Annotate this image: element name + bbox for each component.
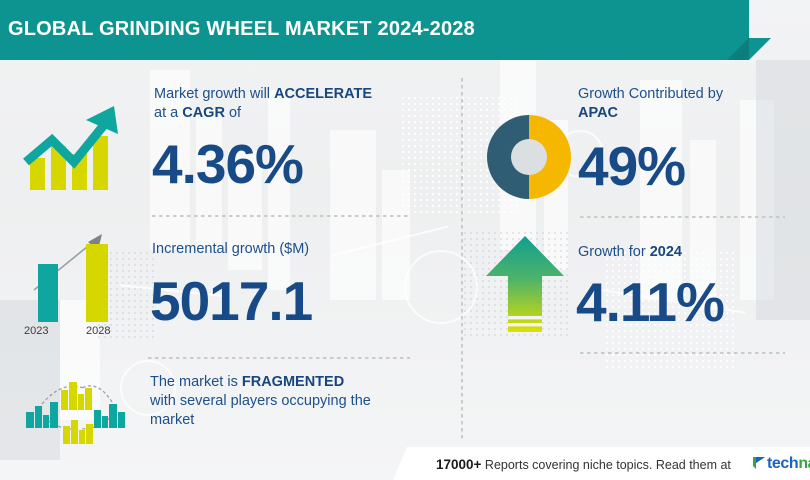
growth-2024-value: 4.11% xyxy=(576,273,724,331)
up-arrow-gradient-icon xyxy=(480,232,570,338)
left-divider-1 xyxy=(152,215,410,217)
cagr-caption-ata: at a xyxy=(154,105,182,121)
cagr-caption-pre: Market growth will xyxy=(154,86,274,102)
growth-2024-year: 2024 xyxy=(650,244,682,260)
apac-value: 49% xyxy=(578,137,685,195)
cagr-caption-cagr: CAGR xyxy=(182,105,225,121)
footer-message: Reports covering niche topics. Read them… xyxy=(485,458,731,472)
fragmentation-bold: FRAGMENTED xyxy=(242,374,344,390)
incremental-value: 5017.1 xyxy=(150,272,312,330)
technavio-flag-icon xyxy=(752,455,766,470)
growth-2024-pre: Growth for xyxy=(578,244,650,260)
reports-count: 17000+ xyxy=(436,457,481,472)
infographic-canvas: GLOBAL GRINDING WHEEL MARKET 2024-2028 M… xyxy=(0,0,810,480)
fragmented-market-buildings-icon xyxy=(18,374,133,446)
footer-text: 17000+ Reports covering niche topics. Re… xyxy=(436,457,731,472)
fragmentation-caption: The market is FRAGMENTED with several pl… xyxy=(150,373,450,430)
cagr-caption-accelerate: ACCELERATE xyxy=(274,86,372,102)
growth-chart-arrow-icon xyxy=(18,96,130,196)
left-divider-2 xyxy=(148,357,410,359)
growth-2024-caption: Growth for 2024 xyxy=(578,243,682,262)
bar-chart-growth-icon xyxy=(20,228,132,328)
apac-caption-line1: Growth Contributed by xyxy=(578,85,803,104)
cagr-caption: Market growth will ACCELERATE at a CAGR … xyxy=(154,85,444,123)
bar-label-2023: 2023 xyxy=(24,325,48,337)
right-divider-1 xyxy=(580,216,785,218)
fragmentation-line3: market xyxy=(150,411,450,430)
banner-fold-corner xyxy=(727,38,749,60)
bar-label-2028: 2028 xyxy=(86,325,110,337)
cagr-value: 4.36% xyxy=(152,135,303,193)
right-divider-2 xyxy=(580,352,785,354)
page-title: GLOBAL GRINDING WHEEL MARKET 2024-2028 xyxy=(8,18,475,41)
logo-word-tech: tech xyxy=(767,455,798,473)
logo-word-nav: nav xyxy=(798,455,810,473)
banner-fold-tip xyxy=(749,38,771,60)
column-divider xyxy=(461,78,463,440)
fragmentation-pre: The market is xyxy=(150,374,242,390)
fragmentation-line2: with several players occupying the xyxy=(150,392,450,411)
donut-chart-icon xyxy=(484,112,574,202)
apac-caption: Growth Contributed by APAC xyxy=(578,85,803,123)
apac-caption-region: APAC xyxy=(578,105,618,121)
incremental-caption: Incremental growth ($M) xyxy=(152,240,309,259)
cagr-caption-of: of xyxy=(225,105,241,121)
technavio-logo[interactable]: technav xyxy=(752,455,810,474)
